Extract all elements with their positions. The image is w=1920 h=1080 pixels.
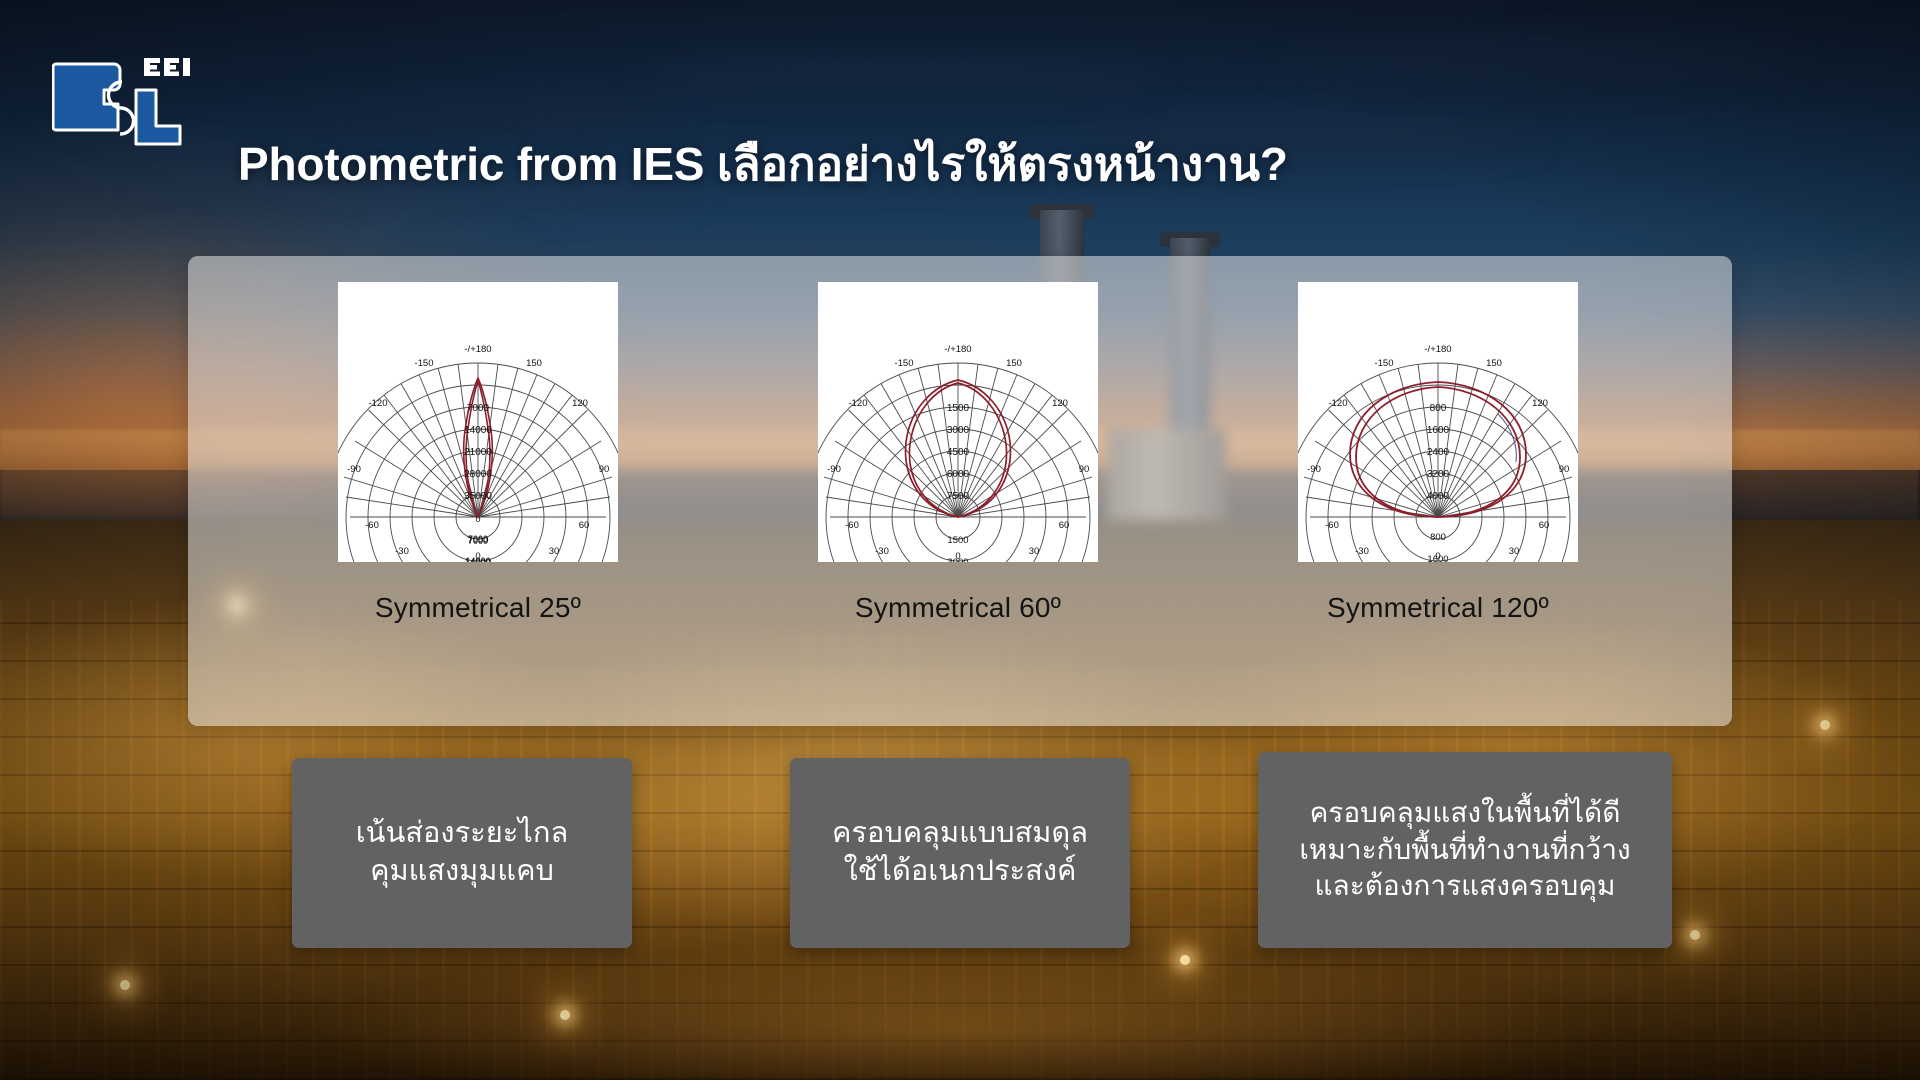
note-card-narrow-beam: เน้นส่องระยะไกล คุมแสงมุมแคบ [292, 758, 632, 948]
svg-text:-/+180: -/+180 [1424, 344, 1451, 355]
svg-text:3000: 3000 [947, 557, 968, 562]
svg-text:-150: -150 [414, 358, 433, 369]
brand-logo[interactable] [52, 52, 192, 147]
page-title: Photometric from IES เลือกอย่างไรให้ตรงห… [238, 128, 1288, 201]
svg-text:30: 30 [549, 546, 560, 557]
note-card-wide-beam: ครอบคลุมแสงในพื้นที่ได้ดี เหมาะกับพื้นที… [1258, 752, 1672, 948]
sl-led-logo-icon [52, 52, 192, 147]
svg-text:150: 150 [1486, 358, 1502, 369]
svg-text:3000: 3000 [947, 425, 970, 436]
svg-text:90: 90 [1559, 464, 1570, 475]
svg-text:-120: -120 [368, 398, 387, 409]
chart-caption: Symmetrical 25º [228, 592, 728, 624]
polar-chart-60: -/+180 -150150 -120120 -9090 -6060 -3030… [818, 282, 1098, 562]
svg-text:150: 150 [526, 358, 542, 369]
svg-text:-120: -120 [848, 398, 867, 409]
svg-text:28000: 28000 [464, 469, 492, 480]
chart-cell-symmetrical-120: -/+180 -150150 -120120 -9090 -6060 -3030… [1188, 282, 1688, 624]
chart-caption: Symmetrical 120º [1188, 592, 1688, 624]
svg-text:14000: 14000 [465, 557, 491, 562]
svg-text:-/+180: -/+180 [464, 344, 491, 355]
svg-text:60: 60 [1539, 520, 1550, 531]
note-text: เน้นส่องระยะไกล คุมแสงมุมแคบ [340, 815, 584, 890]
note-line: คุมแสงมุมแคบ [356, 853, 568, 891]
note-line: เน้นส่องระยะไกล [356, 815, 568, 853]
svg-text:35000: 35000 [464, 491, 492, 502]
svg-text:4000: 4000 [1427, 491, 1450, 502]
svg-text:1600: 1600 [1427, 554, 1448, 562]
svg-text:-30: -30 [875, 546, 889, 557]
svg-text:6000: 6000 [947, 469, 970, 480]
note-line: ครอบคลุมแบบสมดุล [832, 815, 1088, 853]
svg-text:-30: -30 [1355, 546, 1369, 557]
svg-text:90: 90 [1079, 464, 1090, 475]
svg-text:-150: -150 [1374, 358, 1393, 369]
svg-text:-30: -30 [395, 546, 409, 557]
svg-text:-150: -150 [894, 358, 913, 369]
svg-text:-60: -60 [365, 520, 379, 531]
svg-text:30: 30 [1509, 546, 1520, 557]
svg-text:7000: 7000 [467, 403, 490, 414]
charts-panel: -/+180 -150150 -120120 -9090 -6060 -3030… [188, 256, 1732, 726]
svg-text:2400: 2400 [1427, 447, 1450, 458]
svg-text:60: 60 [579, 520, 590, 531]
svg-text:120: 120 [1052, 398, 1068, 409]
svg-text:-60: -60 [845, 520, 859, 531]
svg-text:7000: 7000 [467, 535, 488, 546]
chart-cell-symmetrical-25: -/+180 -150150 -120120 -9090 -6060 -3030… [228, 282, 728, 624]
svg-text:-90: -90 [1307, 464, 1321, 475]
note-card-balanced-beam: ครอบคลุมแบบสมดุล ใช้ได้อเนกประสงค์ [790, 758, 1130, 948]
svg-text:150: 150 [1006, 358, 1022, 369]
svg-text:-/+180: -/+180 [944, 344, 971, 355]
svg-text:4500: 4500 [947, 447, 970, 458]
svg-text:-60: -60 [1325, 520, 1339, 531]
svg-text:800: 800 [1430, 532, 1446, 543]
svg-text:120: 120 [572, 398, 588, 409]
svg-text:1500: 1500 [947, 403, 970, 414]
note-text: ครอบคลุมแสงในพื้นที่ได้ดี เหมาะกับพื้นที… [1283, 795, 1646, 904]
svg-text:1600: 1600 [1427, 425, 1450, 436]
svg-text:3200: 3200 [1427, 469, 1450, 480]
svg-text:120: 120 [1532, 398, 1548, 409]
note-line: และต้องการแสงครอบคุม [1299, 868, 1630, 904]
svg-text:-90: -90 [347, 464, 361, 475]
note-line: ใช้ได้อเนกประสงค์ [832, 853, 1088, 891]
svg-text:60: 60 [1059, 520, 1070, 531]
chart-caption: Symmetrical 60º [708, 592, 1208, 624]
svg-text:90: 90 [599, 464, 610, 475]
svg-text:7500: 7500 [947, 491, 970, 502]
svg-text:1500: 1500 [947, 535, 968, 546]
note-line: ครอบคลุมแสงในพื้นที่ได้ดี [1299, 795, 1630, 831]
chart-cell-symmetrical-60: -/+180 -150150 -120120 -9090 -6060 -3030… [708, 282, 1208, 624]
svg-text:30: 30 [1029, 546, 1040, 557]
svg-text:21000: 21000 [464, 447, 492, 458]
svg-text:800: 800 [1430, 403, 1447, 414]
svg-text:14000: 14000 [464, 425, 492, 436]
svg-text:-120: -120 [1328, 398, 1347, 409]
polar-chart-25: -/+180 -150150 -120120 -9090 -6060 -3030… [338, 282, 618, 562]
note-text: ครอบคลุมแบบสมดุล ใช้ได้อเนกประสงค์ [816, 815, 1104, 890]
svg-text:-90: -90 [827, 464, 841, 475]
polar-chart-120: -/+180 -150150 -120120 -9090 -6060 -3030… [1298, 282, 1578, 562]
charts-row: -/+180 -150150 -120120 -9090 -6060 -3030… [188, 256, 1732, 726]
note-line: เหมาะกับพื้นที่ทำงานที่กว้าง [1299, 832, 1630, 868]
